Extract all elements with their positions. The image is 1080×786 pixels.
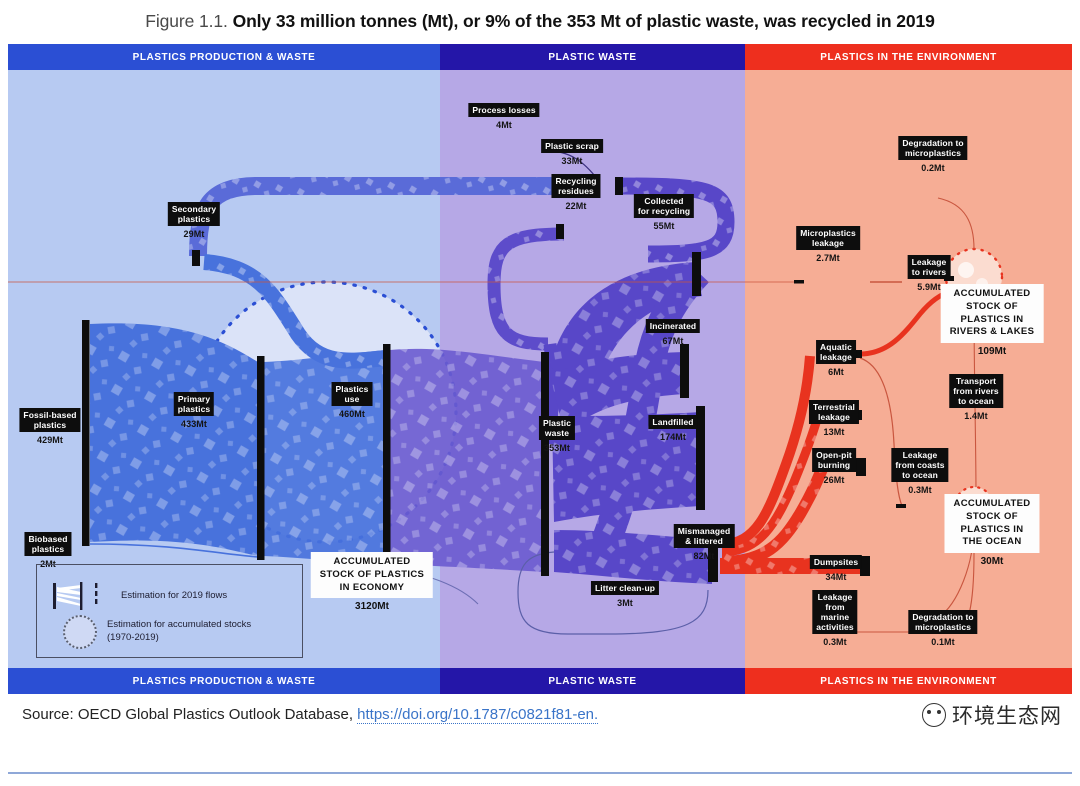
- flow-aquatic-coasts: [860, 358, 902, 506]
- bottom-rule: [8, 772, 1072, 774]
- figure-headline: Only 33 million tonnes (Mt), or 9% of th…: [233, 11, 935, 31]
- band-bottom-environment: PLASTICS IN THE ENVIRONMENT: [745, 668, 1072, 694]
- watermark-logo-icon: [922, 703, 946, 727]
- flow-scrap-process-losses: [548, 151, 598, 180]
- band-bottom-waste: PLASTIC WASTE: [440, 668, 745, 694]
- flows-icon: [51, 579, 113, 613]
- flow-marine-ocean: [814, 526, 974, 632]
- band-bottom-production: PLASTICS PRODUCTION & WASTE: [8, 668, 440, 694]
- flow-rivers-degradation: [938, 198, 974, 249]
- watermark-text: 环境生态网: [952, 700, 1062, 730]
- legend-box: Estimation for 2019 flows Estimation for…: [36, 564, 303, 658]
- source-prefix: Source: OECD Global Plastics Outlook Dat…: [22, 706, 357, 723]
- infographic-page: Figure 1.1. Only 33 million tonnes (Mt),…: [0, 0, 1080, 786]
- band-label-waste-bottom: PLASTIC WASTE: [548, 676, 636, 687]
- figure-number: Figure 1.1.: [145, 11, 228, 31]
- band-label-environment-bottom: PLASTICS IN THE ENVIRONMENT: [820, 676, 997, 687]
- flow-ocean-degradation: [938, 525, 974, 618]
- source-link[interactable]: https://doi.org/10.1787/c0821f81-en.: [357, 706, 598, 724]
- stock-circle-icon: [63, 615, 97, 649]
- watermark: 环境生态网: [922, 700, 1062, 730]
- band-label-production-bottom: PLASTICS PRODUCTION & WASTE: [133, 676, 316, 687]
- figure-title: Figure 1.1. Only 33 million tonnes (Mt),…: [0, 0, 1080, 42]
- legend-row-flows: Estimation for 2019 flows: [51, 579, 227, 613]
- legend-flows-label: Estimation for 2019 flows: [121, 590, 227, 603]
- flow-aquatic-rivers: [860, 290, 954, 354]
- flow-rivers-transport-ocean: [974, 305, 976, 496]
- sankey-chart: PLASTICS PRODUCTION & WASTE PLASTIC WAST…: [8, 44, 1072, 694]
- legend-row-stocks: Estimation for accumulated stocks (1970-…: [51, 615, 277, 649]
- source-line: Source: OECD Global Plastics Outlook Dat…: [22, 706, 598, 723]
- legend-stocks-label: Estimation for accumulated stocks (1970-…: [107, 619, 277, 645]
- flow-use-stock-economy: [390, 566, 478, 604]
